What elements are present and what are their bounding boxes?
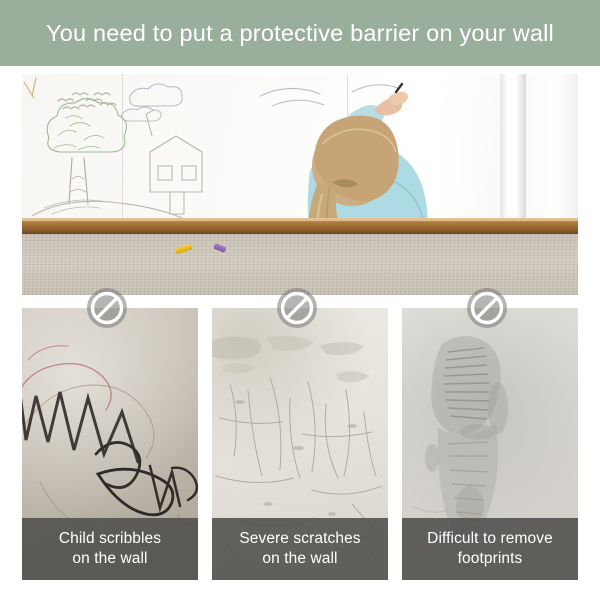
carpet bbox=[22, 234, 578, 295]
caption-line-1: Difficult to remove bbox=[427, 529, 553, 549]
caption-line-1: Severe scratches bbox=[239, 529, 360, 549]
tile-difficult-footprints: Difficult to remove footprints bbox=[402, 308, 578, 580]
tile-caption-footprints: Difficult to remove footprints bbox=[402, 518, 578, 580]
header-banner: You need to put a protective barrier on … bbox=[0, 0, 600, 66]
baseboard-highlight bbox=[22, 218, 578, 221]
prohibition-icon bbox=[466, 287, 508, 329]
tile-severe-scratches: Severe scratches on the wall bbox=[212, 308, 388, 580]
problem-tiles: Child scribbles on the wall bbox=[22, 308, 578, 580]
caption-line-2: footprints bbox=[458, 549, 523, 569]
caption-line-2: on the wall bbox=[262, 549, 337, 569]
tile-caption-scratches: Severe scratches on the wall bbox=[212, 518, 388, 580]
caption-line-1: Child scribbles bbox=[59, 529, 161, 549]
infographic-page: You need to put a protective barrier on … bbox=[0, 0, 600, 600]
page-title: You need to put a protective barrier on … bbox=[46, 20, 554, 47]
prohibition-icon bbox=[86, 287, 128, 329]
prohibition-icon bbox=[276, 287, 318, 329]
tile-caption-scribbles: Child scribbles on the wall bbox=[22, 518, 198, 580]
caption-line-2: on the wall bbox=[72, 549, 147, 569]
tile-child-scribbles: Child scribbles on the wall bbox=[22, 308, 198, 580]
hero-photo bbox=[22, 74, 578, 295]
